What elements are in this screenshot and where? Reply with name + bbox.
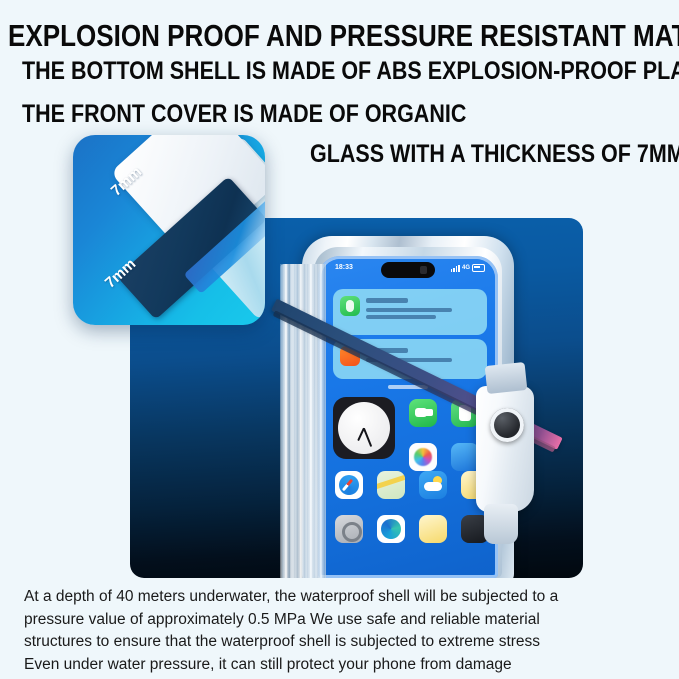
phone-status-bar: 18:33 4G	[321, 259, 495, 281]
notification-title	[366, 298, 408, 303]
pressure-valve-knob-icon	[490, 408, 524, 442]
description-line: At a depth of 40 meters underwater, the …	[24, 586, 660, 609]
network-type-label: 4G	[462, 265, 470, 272]
safari-app-icon	[335, 471, 363, 499]
pressure-valve-module	[476, 386, 534, 512]
module-foot	[484, 504, 518, 544]
notification-body-line	[366, 308, 452, 312]
weather-app-icon	[419, 471, 447, 499]
notification-card	[333, 289, 487, 335]
headline-primary: EXPLOSION PROOF AND PRESSURE RESISTANT M…	[8, 18, 679, 54]
headline-front-cover: THE FRONT COVER IS MADE OF ORGANIC	[22, 100, 466, 129]
headline-bottom-shell: THE BOTTOM SHELL IS MADE OF ABS EXPLOSIO…	[22, 57, 679, 86]
yellow-app-icon	[419, 515, 447, 543]
dynamic-island	[381, 262, 435, 278]
photos-app-icon	[409, 443, 437, 471]
phone-screen: 18:33 4G	[321, 259, 495, 575]
analog-clock-widget	[333, 397, 395, 459]
module-strap	[485, 362, 528, 394]
headline-glass-thickness: GLASS WITH A THICKNESS OF 7MM	[310, 140, 679, 169]
description-line: Even under water pressure, it can still …	[24, 654, 660, 677]
facetime-app-icon	[409, 399, 437, 427]
signal-bars-icon	[451, 265, 460, 273]
edge-app-icon	[377, 515, 405, 543]
waterproof-case-assembly: 18:33 4G	[280, 236, 540, 578]
smartphone: 18:33 4G	[318, 256, 498, 578]
settings-app-icon	[335, 515, 363, 543]
battery-icon	[472, 264, 485, 272]
notification-body-line	[366, 315, 436, 319]
description-paragraph: At a depth of 40 meters underwater, the …	[24, 586, 660, 676]
maps-app-icon	[377, 471, 405, 499]
description-line: pressure value of approximately 0.5 MPa …	[24, 609, 660, 632]
blue-app-icon	[451, 443, 479, 471]
clock-face	[338, 402, 390, 454]
product-infographic: EXPLOSION PROOF AND PRESSURE RESISTANT M…	[0, 0, 679, 679]
description-line: structures to ensure that the waterproof…	[24, 631, 660, 654]
status-bar-time: 18:33	[335, 264, 353, 271]
status-bar-indicators: 4G	[451, 264, 485, 272]
messaging-app-icon	[340, 296, 360, 316]
thickness-closeup-inset: 7mm 7mm	[73, 135, 265, 325]
clock-minute-hand	[363, 428, 372, 447]
